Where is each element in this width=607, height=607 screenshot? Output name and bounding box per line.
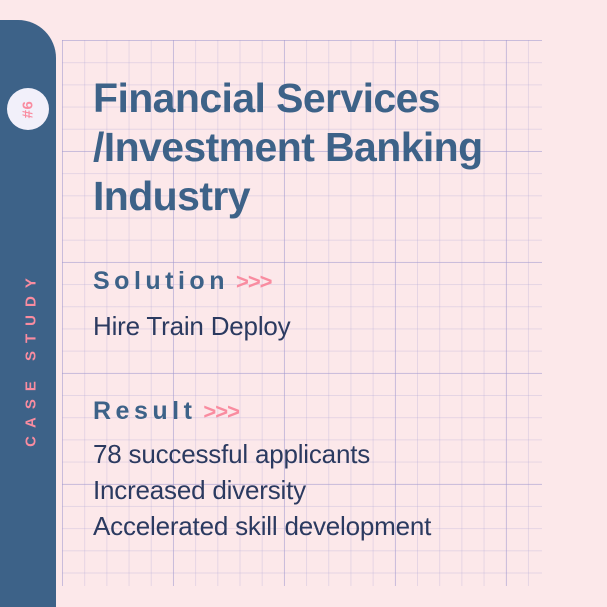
solution-heading: Solution >>> <box>93 267 272 296</box>
case-study-vertical-label: CASE STUDY <box>23 219 40 499</box>
chevrons-right-icon: >>> <box>236 269 272 295</box>
solution-body-text: Hire Train Deploy <box>93 308 290 344</box>
page-title: Financial Services /Investment Banking I… <box>93 74 545 221</box>
list-item: Accelerated skill development <box>93 508 431 544</box>
result-heading-label: Result <box>93 397 196 426</box>
list-item: Increased diversity <box>93 472 431 508</box>
result-body-list: 78 successful applicants Increased diver… <box>93 436 431 544</box>
case-study-card: #6 CASE STUDY Financial Services /Invest… <box>0 0 607 607</box>
result-heading: Result >>> <box>93 397 239 426</box>
list-item: 78 successful applicants <box>93 436 431 472</box>
card-content: Financial Services /Investment Banking I… <box>93 0 563 607</box>
case-number-badge: #6 <box>7 88 49 130</box>
solution-heading-label: Solution <box>93 267 229 296</box>
chevrons-right-icon: >>> <box>203 399 239 425</box>
case-study-rail: #6 CASE STUDY <box>0 20 56 607</box>
case-number-badge-label: #6 <box>20 100 37 118</box>
